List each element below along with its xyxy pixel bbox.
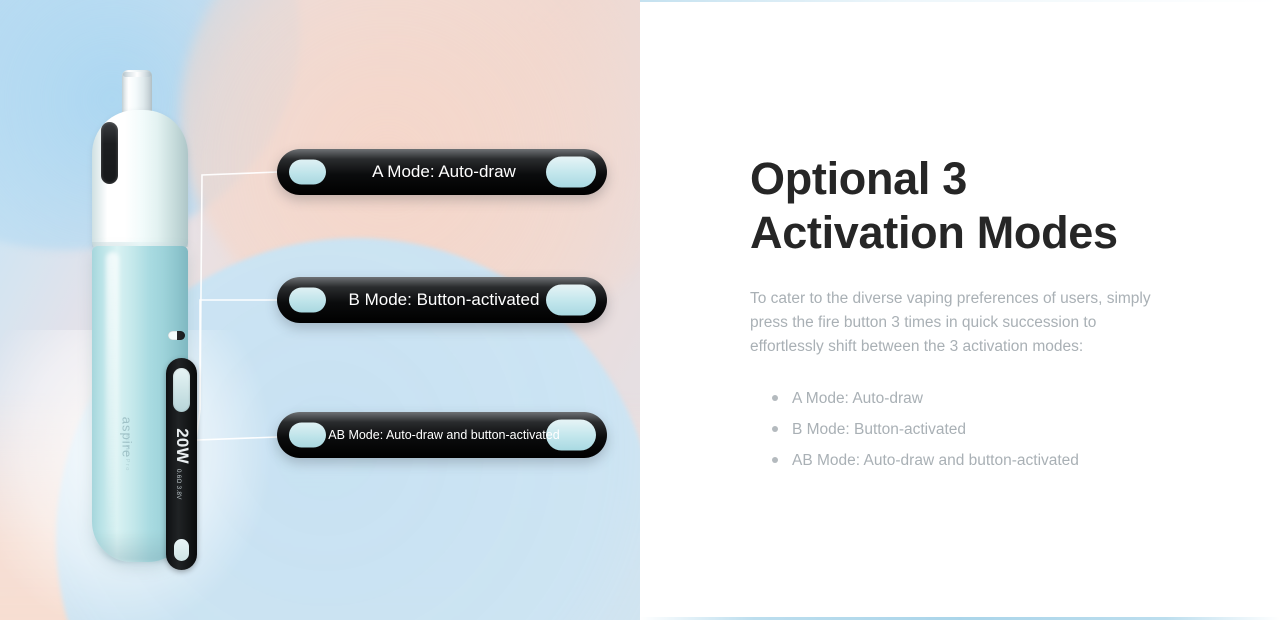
callout-pill-label: AB Mode: Auto-draw and button-activated xyxy=(314,428,569,442)
list-item: A Mode: Auto-draw xyxy=(792,387,1220,410)
bullet-icon xyxy=(772,426,778,432)
device-brand-model: Vilter Pro xyxy=(124,418,130,488)
list-item: AB Mode: Auto-draw and button-activated xyxy=(792,449,1220,472)
top-accent-rule xyxy=(640,0,1280,2)
pill-cap-right-icon xyxy=(546,285,596,316)
callout-pill-label: B Mode: Button-activated xyxy=(335,290,550,310)
device-pod-window xyxy=(101,122,118,184)
bullet-icon xyxy=(772,457,778,463)
product-feature-panel: 20W 0.6Ω 3.8V aspire Vilter Pro A Mode: … xyxy=(0,0,1280,620)
feature-text-block: Optional 3 Activation Modes To cater to … xyxy=(750,152,1220,481)
list-item-label: B Mode: Button-activated xyxy=(792,421,966,438)
device-airflow-switch xyxy=(168,331,185,340)
pill-cap-left-icon xyxy=(289,160,326,185)
callout-pill-a-mode: A Mode: Auto-draw xyxy=(277,149,607,195)
callout-pill-b-mode: B Mode: Button-activated xyxy=(277,277,607,323)
vape-device-illustration: 20W 0.6Ω 3.8V aspire Vilter Pro xyxy=(84,70,204,565)
list-item-label: AB Mode: Auto-draw and button-activated xyxy=(792,452,1079,469)
list-item: B Mode: Button-activated xyxy=(792,418,1220,441)
page-title-line1: Optional 3 xyxy=(750,153,967,204)
pill-cap-right-icon xyxy=(546,157,596,188)
pill-cap-left-icon xyxy=(289,288,326,313)
callout-pill-ab-mode: AB Mode: Auto-draw and button-activated xyxy=(277,412,607,458)
device-screen-subvalues: 0.6Ω 3.8V xyxy=(175,469,182,500)
list-item-label: A Mode: Auto-draw xyxy=(792,390,923,407)
bullet-icon xyxy=(772,395,778,401)
device-adjust-button xyxy=(174,539,189,561)
callout-pill-label: A Mode: Auto-draw xyxy=(358,162,526,182)
feature-text-panel: Optional 3 Activation Modes To cater to … xyxy=(640,0,1280,620)
device-fire-button xyxy=(173,368,190,412)
device-screen-readout: 20W 0.6Ω 3.8V xyxy=(172,428,192,499)
device-wattage-value: 20W xyxy=(172,428,192,464)
device-screen-strip: 20W 0.6Ω 3.8V xyxy=(166,358,197,570)
device-body-highlight xyxy=(106,252,119,542)
activation-mode-list: A Mode: Auto-draw B Mode: Button-activat… xyxy=(750,387,1220,473)
page-title-line2: Activation Modes xyxy=(750,207,1118,258)
feature-description: To cater to the diverse vaping preferenc… xyxy=(750,287,1170,359)
page-title: Optional 3 Activation Modes xyxy=(750,152,1220,261)
product-image-panel: 20W 0.6Ω 3.8V aspire Vilter Pro A Mode: … xyxy=(0,0,640,620)
